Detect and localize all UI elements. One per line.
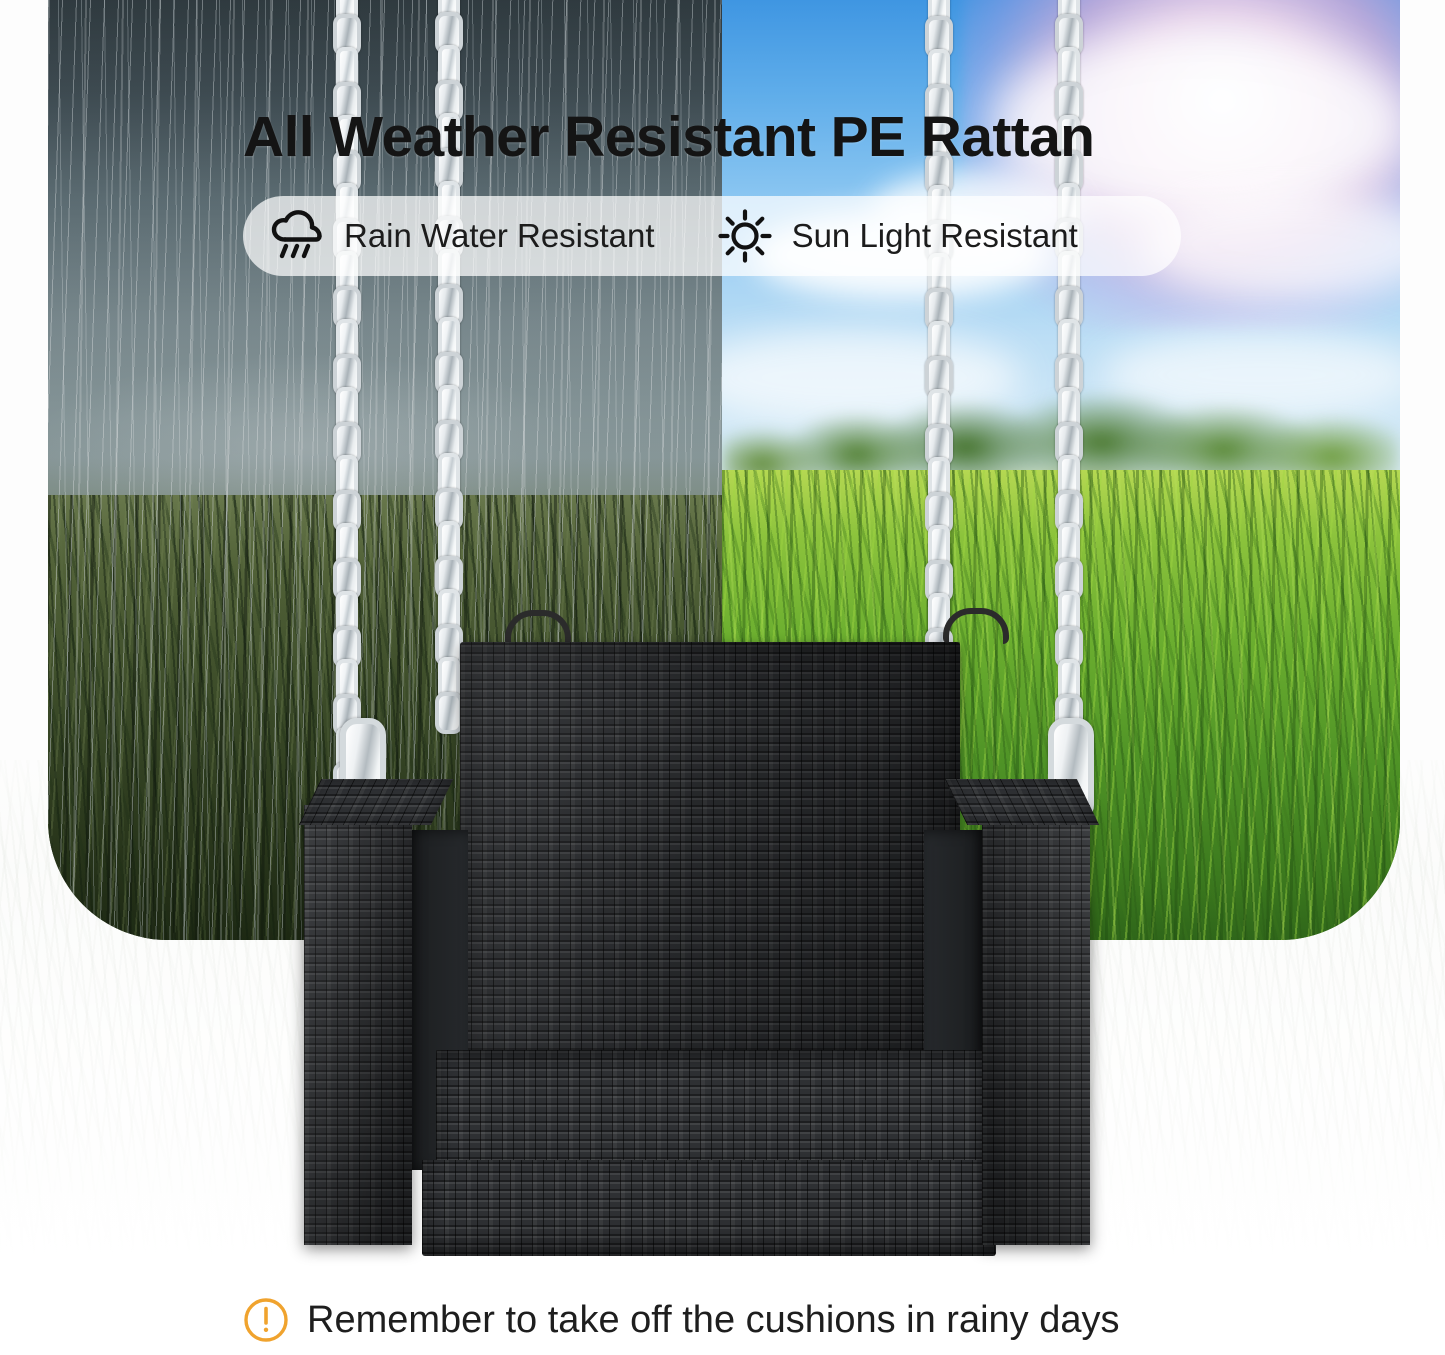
footer-note-text: Remember to take off the cushions in rai… xyxy=(307,1299,1120,1342)
feature-label: Rain Water Resistant xyxy=(344,217,655,255)
feature-badge: Rain Water Resistant xyxy=(243,196,1181,276)
feature-sun-light-resistant: Sun Light Resistant xyxy=(717,208,1078,264)
swing-seat xyxy=(436,1050,996,1170)
swing-armrest-left-top xyxy=(299,779,453,825)
swing-armrest-right xyxy=(982,805,1090,1245)
pe-rattan-porch-swing xyxy=(296,630,1096,1260)
sun-icon xyxy=(717,208,773,264)
feature-rain-water-resistant: Rain Water Resistant xyxy=(269,210,655,262)
rain-cloud-icon xyxy=(269,210,325,262)
swing-armrest-right-top xyxy=(945,779,1099,825)
feature-label: Sun Light Resistant xyxy=(792,217,1078,255)
page-title: All Weather Resistant PE Rattan xyxy=(243,104,1243,170)
product-feature-image: All Weather Resistant PE Rattan Rain Wat… xyxy=(0,0,1445,1355)
warning-exclamation-icon xyxy=(243,1297,289,1343)
swing-backrest xyxy=(460,642,960,1097)
swing-armrest-left xyxy=(304,805,412,1245)
swing-seat-front-apron xyxy=(422,1160,996,1256)
footer-note: Remember to take off the cushions in rai… xyxy=(243,1292,1343,1348)
